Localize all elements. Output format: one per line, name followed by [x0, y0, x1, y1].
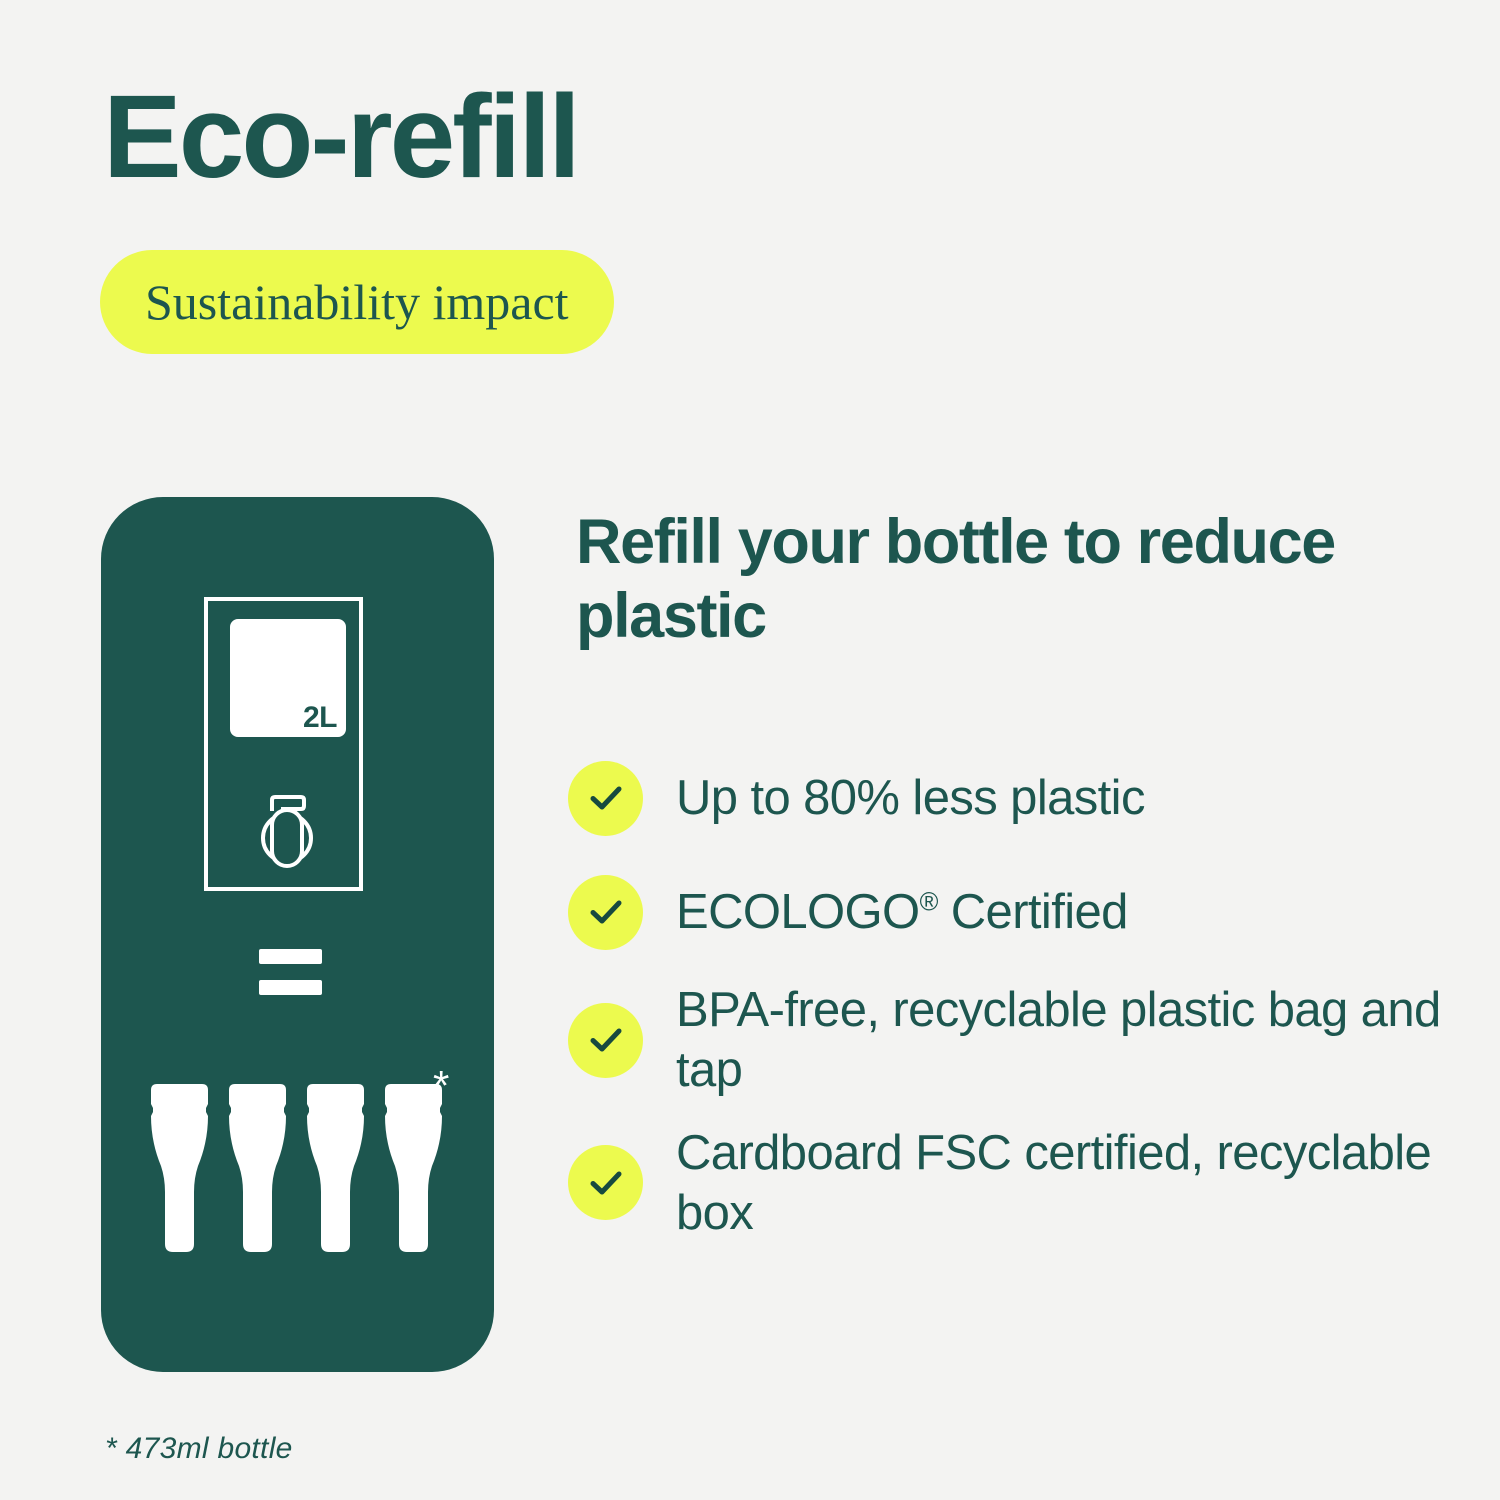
equals-symbol	[259, 949, 322, 995]
list-item: ECOLOGO® Certified	[568, 866, 1448, 958]
list-item: Cardboard FSC certified, recyclable box	[568, 1123, 1448, 1244]
badge-label: Sustainability impact	[145, 273, 569, 331]
check-icon	[568, 875, 643, 950]
sustainability-impact-badge: Sustainability impact	[100, 250, 614, 354]
list-item-label: BPA-free, recyclable plastic bag and tap	[676, 980, 1448, 1101]
bottle-icon	[224, 1082, 291, 1257]
main-headline: Refill your bottle to reduce plastic	[576, 505, 1366, 654]
list-item: BPA-free, recyclable plastic bag and tap	[568, 980, 1448, 1101]
tap-spout-icon	[253, 784, 321, 872]
list-item-label-main: ECOLOGO	[676, 885, 920, 939]
list-item-label: ECOLOGO® Certified	[676, 882, 1128, 942]
list-item: Up to 80% less plastic	[568, 752, 1448, 844]
registered-trademark-symbol: ®	[920, 889, 938, 917]
footnote-text: * 473ml bottle	[105, 1432, 293, 1466]
refill-carton-outline: 2L	[204, 597, 363, 891]
equals-bar-top	[259, 949, 322, 964]
check-icon	[568, 761, 643, 836]
asterisk-marker: *	[433, 1065, 449, 1107]
carton-label-area: 2L	[230, 619, 346, 737]
carton-volume-label: 2L	[303, 701, 337, 735]
bottle-equivalence-group	[146, 1082, 456, 1257]
equals-bar-bottom	[259, 980, 322, 995]
list-item-label: Up to 80% less plastic	[676, 768, 1145, 828]
illustration-panel: 2L	[101, 497, 494, 1372]
benefits-list: Up to 80% less plastic ECOLOGO® Certifie…	[568, 752, 1448, 1265]
list-item-label-suffix: Certified	[938, 885, 1128, 939]
check-icon	[568, 1003, 643, 1078]
bottle-icon	[302, 1082, 369, 1257]
bottle-icon	[146, 1082, 213, 1257]
list-item-label: Cardboard FSC certified, recyclable box	[676, 1123, 1448, 1244]
check-icon	[568, 1145, 643, 1220]
eco-refill-infographic: Eco-refill Sustainability impact 2L	[0, 0, 1500, 1500]
page-title: Eco-refill	[103, 78, 578, 196]
